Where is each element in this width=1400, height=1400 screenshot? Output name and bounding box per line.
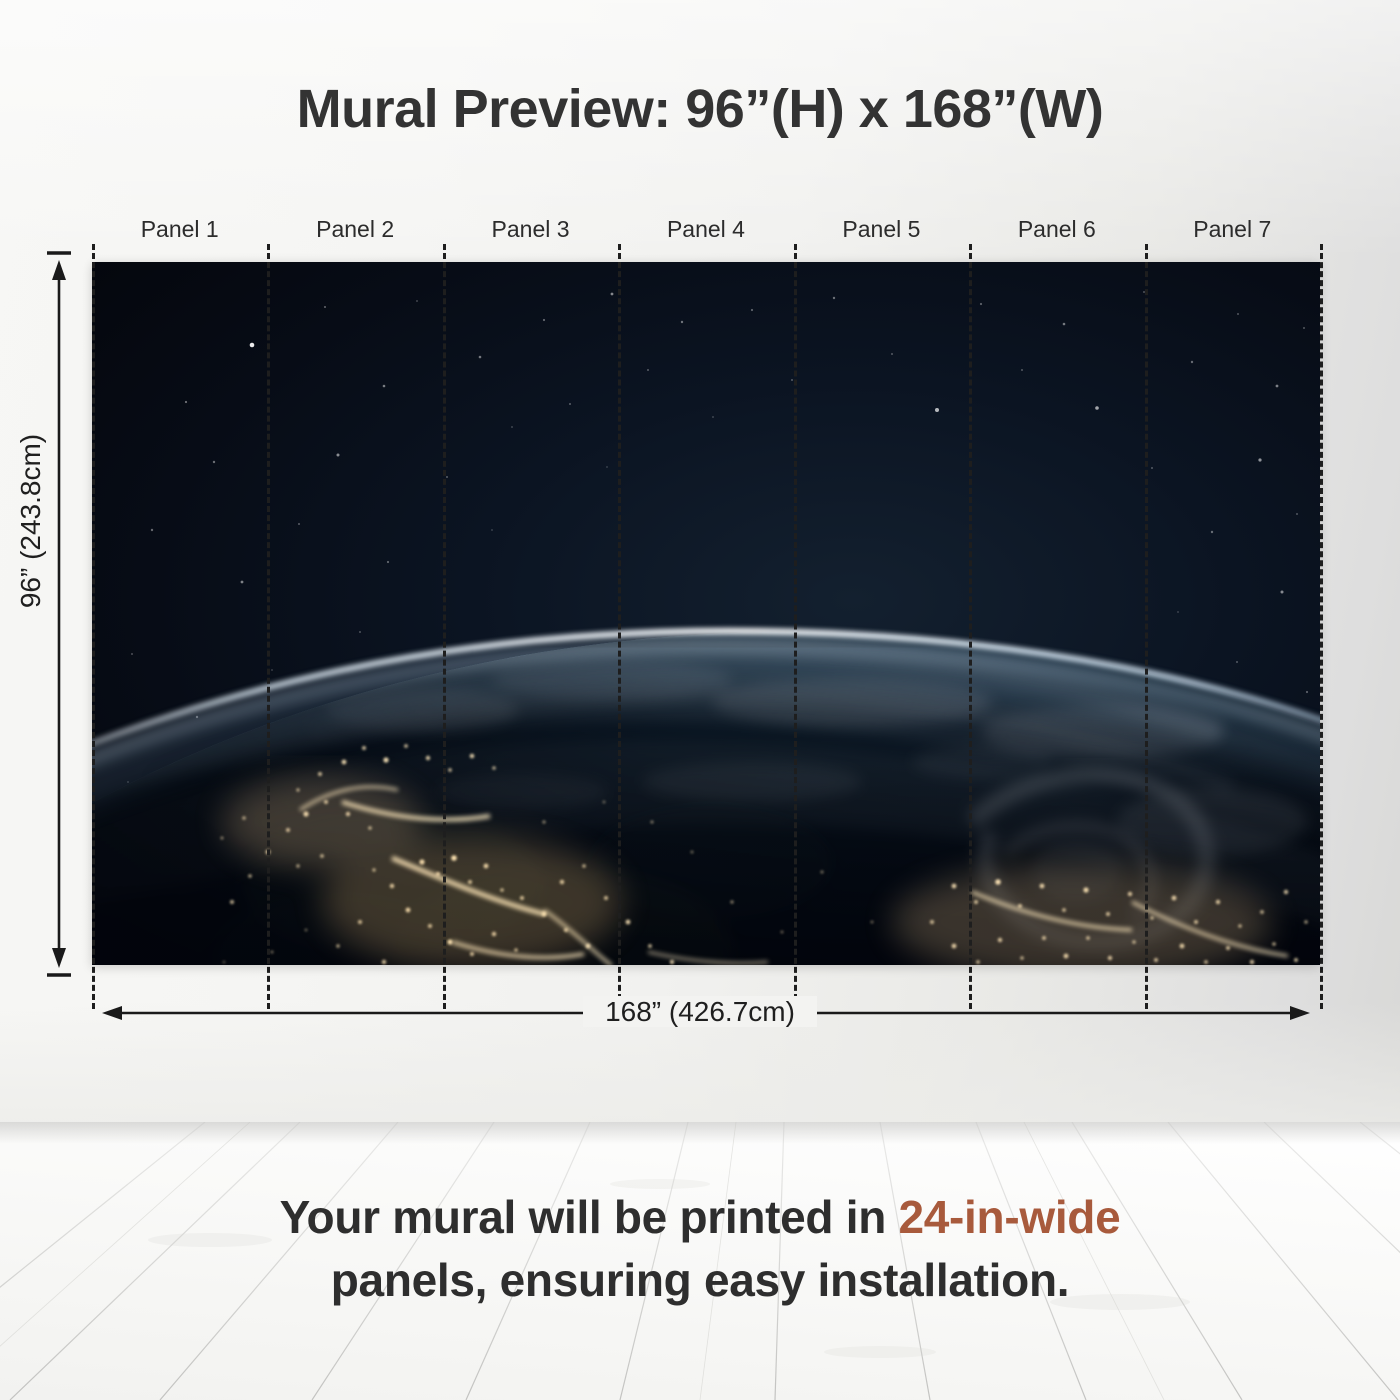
panel-divider-1 xyxy=(267,244,270,1009)
height-dimension-label: 96” (243.8cm) xyxy=(15,411,47,631)
earth-from-space-artwork xyxy=(92,262,1320,965)
height-dimension-line xyxy=(42,250,76,978)
caption: Your mural will be printed in 24-in-wide… xyxy=(0,1186,1400,1312)
panel-divider-right-edge xyxy=(1320,244,1323,1009)
panel-divider-2 xyxy=(443,244,446,1009)
width-dimension-text: 168” (426.7cm) xyxy=(583,996,817,1027)
panel-label-7: Panel 7 xyxy=(1145,215,1320,249)
panel-label-1: Panel 1 xyxy=(92,215,267,249)
panel-label-4: Panel 4 xyxy=(618,215,793,249)
width-dimension-label: 168” (426.7cm) xyxy=(0,996,1400,1028)
panel-label-3: Panel 3 xyxy=(443,215,618,249)
panel-label-6: Panel 6 xyxy=(969,215,1144,249)
caption-line-2: panels, ensuring easy installation. xyxy=(0,1249,1400,1312)
panel-divider-4 xyxy=(794,244,797,1009)
mural-preview-page: Mural Preview: 96”(H) x 168”(W) Panel 1 … xyxy=(0,0,1400,1400)
caption-line-1-prefix: Your mural will be printed in xyxy=(280,1191,899,1243)
panel-label-2: Panel 2 xyxy=(267,215,442,249)
panel-divider-6 xyxy=(1145,244,1148,1009)
panel-divider-3 xyxy=(618,244,621,1009)
panel-divider-left-edge xyxy=(92,244,95,1009)
panel-divider-5 xyxy=(969,244,972,1009)
panel-label-5: Panel 5 xyxy=(794,215,969,249)
mural-image xyxy=(92,262,1320,965)
page-title: Mural Preview: 96”(H) x 168”(W) xyxy=(0,78,1400,140)
caption-line-1: Your mural will be printed in 24-in-wide xyxy=(0,1186,1400,1249)
panel-label-row: Panel 1 Panel 2 Panel 3 Panel 4 Panel 5 … xyxy=(92,215,1320,249)
caption-accent-text: 24-in-wide xyxy=(898,1191,1120,1243)
